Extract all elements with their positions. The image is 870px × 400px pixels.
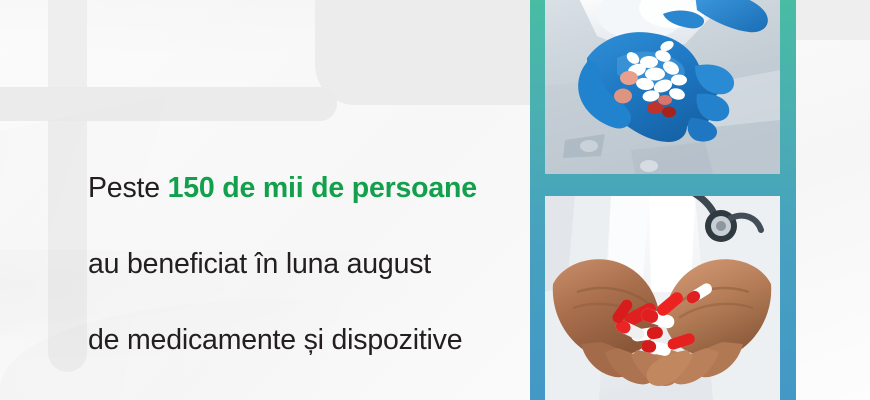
photo-gloved-hand-with-pills bbox=[545, 0, 780, 174]
cupped-hands-with-capsules-icon bbox=[545, 196, 780, 400]
right-background-band bbox=[796, 0, 870, 40]
headline-line-1: Peste 150 de mii de persoane bbox=[88, 169, 528, 207]
decor-top-fade bbox=[0, 0, 440, 60]
photo-cupped-hands-with-capsules bbox=[545, 196, 780, 400]
headline-line-3: de medicamente și dispozitive bbox=[88, 321, 528, 359]
headline-lead: Peste bbox=[88, 172, 168, 204]
promo-banner: Peste 150 de mii de persoane au benefici… bbox=[0, 0, 870, 400]
headline-line-2: au beneficiat în luna august bbox=[88, 245, 528, 283]
decor-rounded-block bbox=[315, 0, 545, 105]
headline-highlight: 150 de mii de persoane bbox=[168, 172, 477, 204]
right-background-fill bbox=[796, 0, 870, 400]
photo-panel bbox=[530, 0, 796, 400]
gloved-hand-with-pills-icon bbox=[545, 0, 780, 174]
decor-vertical-bar bbox=[48, 0, 87, 372]
headline: Peste 150 de mii de persoane au benefici… bbox=[88, 131, 528, 400]
decor-horizontal-bar bbox=[0, 87, 337, 121]
